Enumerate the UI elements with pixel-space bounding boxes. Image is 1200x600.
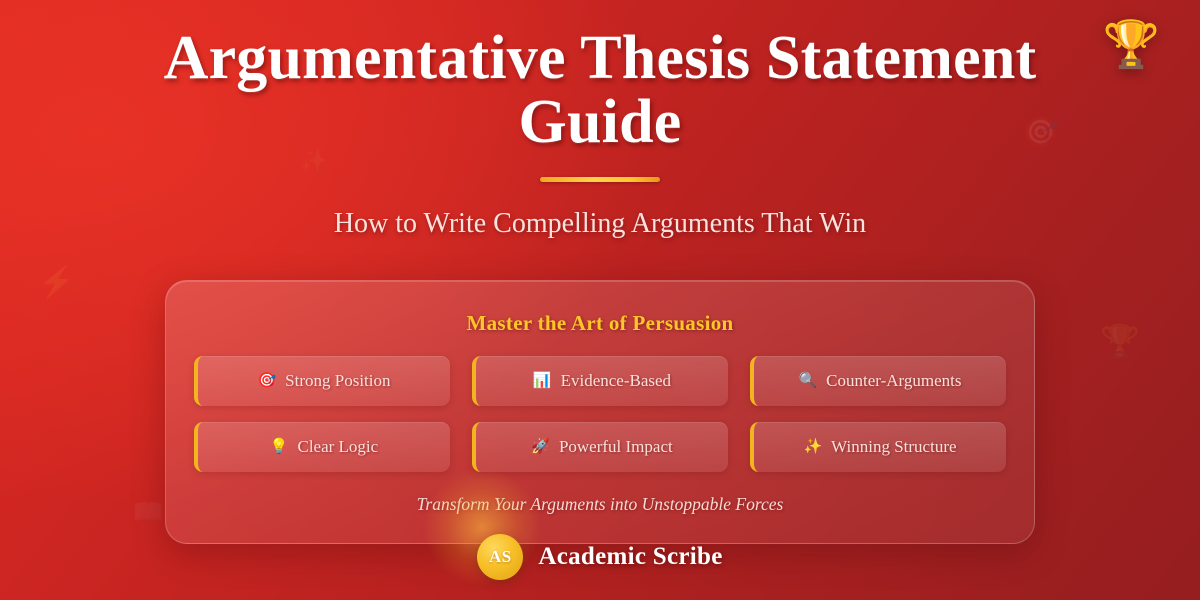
bar-chart-icon: 📊	[533, 374, 552, 389]
feature-pill-label: Counter-Arguments	[826, 371, 961, 391]
feature-pill[interactable]: ✨Winning Structure	[750, 422, 1006, 472]
book-icon: 📖	[132, 500, 164, 526]
feature-pill-grid: 🎯Strong Position📊Evidence-Based🔍Counter-…	[194, 356, 1006, 472]
lightning-bolt-icon: ⚡	[38, 268, 75, 298]
sparkles-icon: ✨	[803, 440, 822, 455]
card-tagline: Transform Your Arguments into Unstoppabl…	[166, 494, 1034, 515]
poster-canvas: ⚡🎯🏆📖✨ 🏆 Argumentative Thesis Statement G…	[0, 0, 1200, 600]
brand-footer: AS Academic Scribe	[0, 534, 1200, 580]
card-heading: Master the Art of Persuasion	[166, 311, 1034, 336]
brand-badge: AS	[477, 534, 523, 580]
brand-name: Academic Scribe	[538, 543, 722, 571]
feature-pill-label: Powerful Impact	[559, 437, 673, 457]
target-icon: 🎯	[257, 374, 276, 389]
page-subtitle: How to Write Compelling Arguments That W…	[0, 208, 1200, 240]
title-divider	[540, 177, 660, 182]
feature-pill-label: Winning Structure	[831, 437, 956, 457]
feature-pill[interactable]: 🚀Powerful Impact	[472, 422, 728, 472]
feature-pill-label: Clear Logic	[297, 437, 378, 457]
magnifier-icon: 🔍	[798, 374, 817, 389]
feature-pill[interactable]: 📊Evidence-Based	[472, 356, 728, 406]
page-title: Argumentative Thesis Statement Guide	[0, 26, 1200, 155]
feature-pill[interactable]: 💡Clear Logic	[194, 422, 450, 472]
trophy-icon: 🏆	[1100, 325, 1140, 357]
lightbulb-icon: 💡	[270, 440, 289, 455]
feature-pill-label: Evidence-Based	[561, 371, 671, 391]
feature-card: Master the Art of Persuasion 🎯Strong Pos…	[165, 280, 1035, 544]
feature-pill[interactable]: 🔍Counter-Arguments	[750, 356, 1006, 406]
feature-pill-label: Strong Position	[285, 371, 390, 391]
rocket-icon: 🚀	[531, 440, 550, 455]
feature-pill[interactable]: 🎯Strong Position	[194, 356, 450, 406]
